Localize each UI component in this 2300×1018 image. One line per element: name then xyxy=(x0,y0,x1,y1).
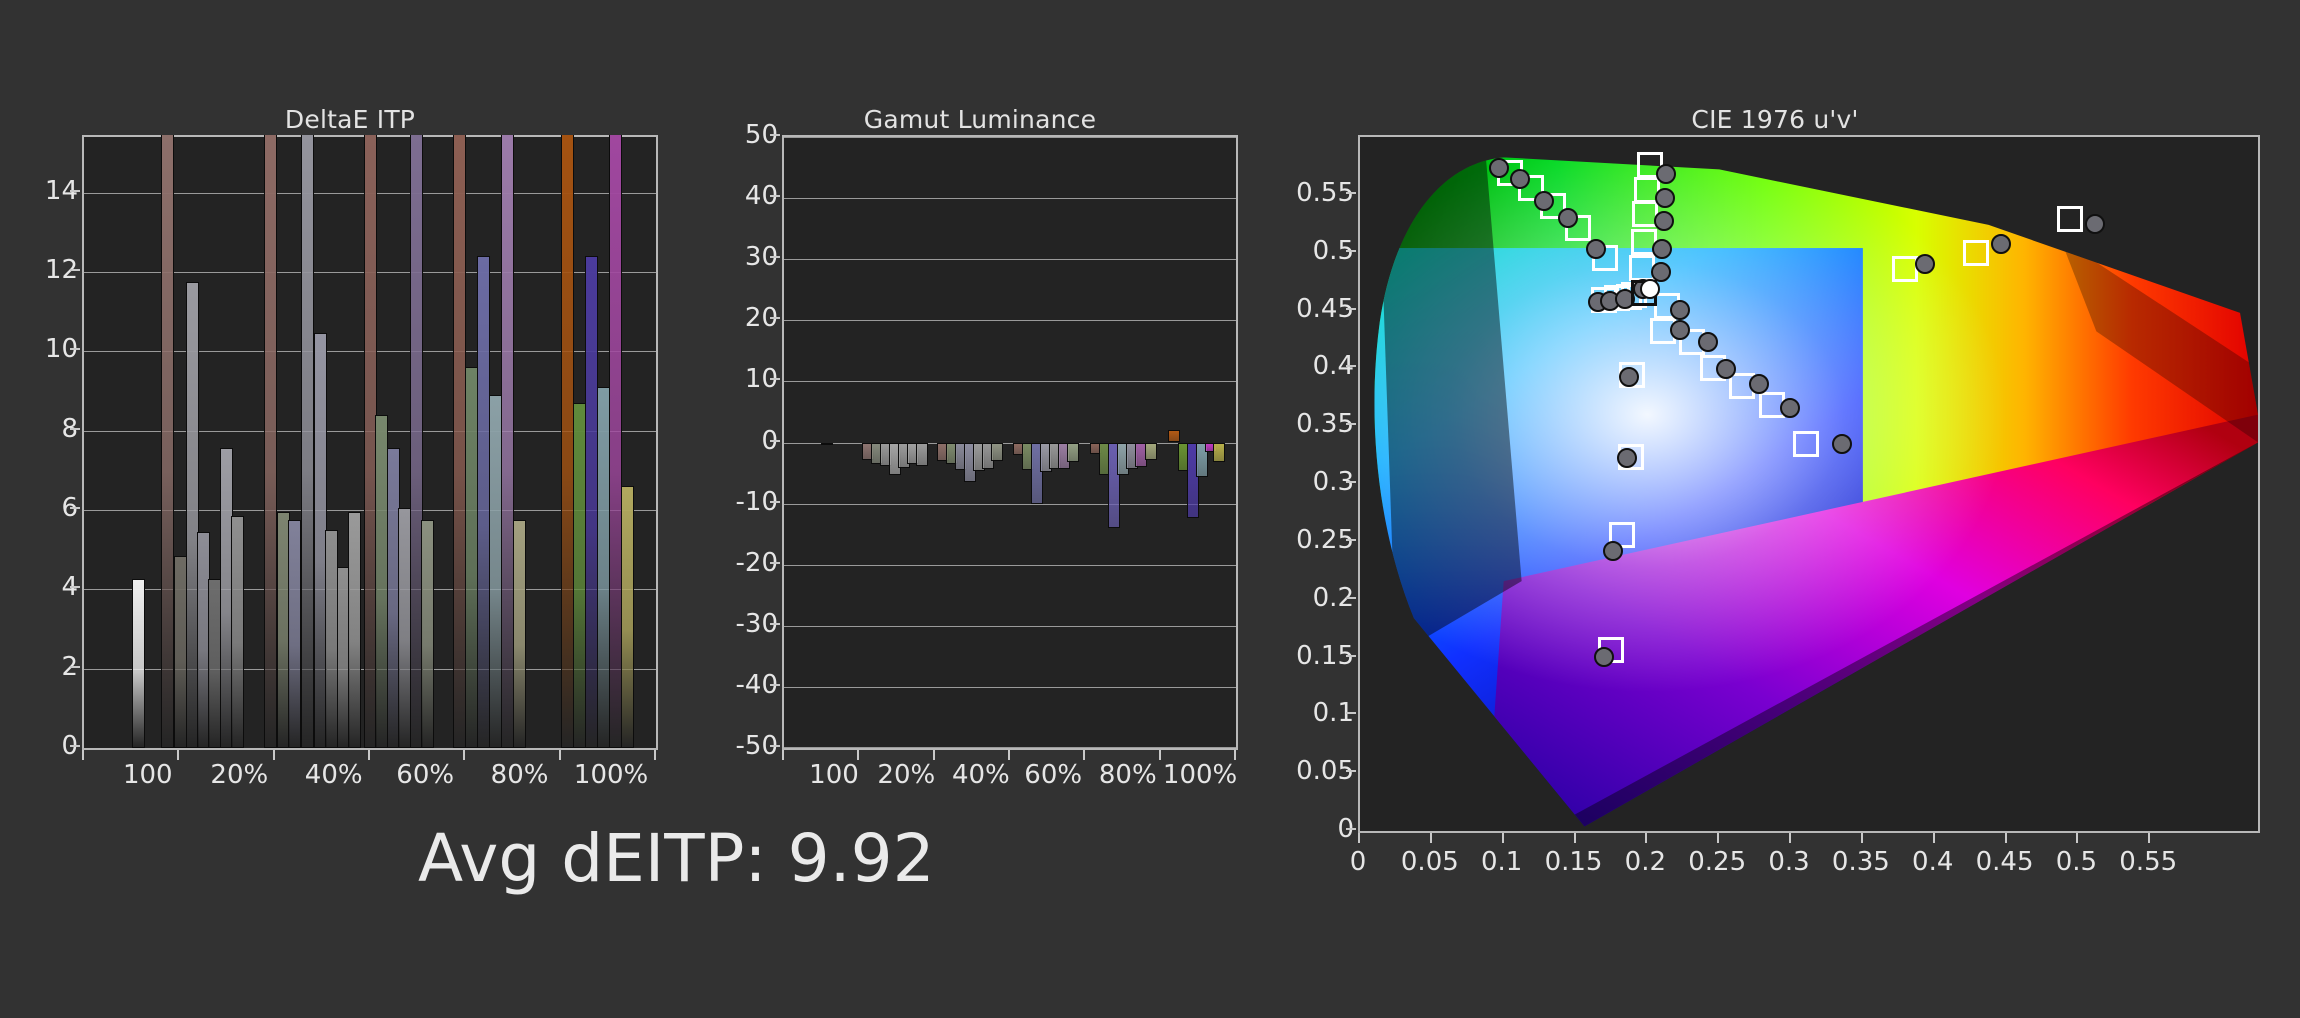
y-axis-tick-label: -20 xyxy=(718,548,778,578)
x-axis-tick-label: 20% xyxy=(877,760,935,790)
cie-spectral-locus xyxy=(1360,137,2258,831)
cie-measured-marker xyxy=(1670,320,1690,340)
y-axis-tick-label: 0.35 xyxy=(1290,409,1354,439)
gamut-luminance-panel: Gamut Luminance 50403020100-10-20-30-40-… xyxy=(700,105,1260,805)
y-axis-tick-label: 0.05 xyxy=(1290,756,1354,786)
x-axis-tick-mark xyxy=(1502,833,1504,843)
cie-measured-marker xyxy=(1510,169,1530,189)
cie-measured-marker xyxy=(1716,359,1736,379)
x-axis-tick-mark xyxy=(1789,833,1791,843)
y-axis-tick-mark xyxy=(770,623,780,625)
x-axis-tick-mark xyxy=(1234,750,1236,760)
y-axis-tick-label: 0.1 xyxy=(1290,698,1354,728)
y-axis-tick-mark xyxy=(1346,365,1356,367)
y-axis-tick-mark xyxy=(70,428,80,430)
gamut-luminance-y-axis: 50403020100-10-20-30-40-50 xyxy=(700,135,778,750)
x-axis-tick-mark xyxy=(1861,833,1863,843)
cie-measured-marker xyxy=(1489,158,1509,178)
cie-measured-marker xyxy=(1780,398,1800,418)
x-axis-tick-label: 100% xyxy=(574,760,648,790)
x-axis-tick-mark xyxy=(654,750,656,760)
deltae-itp-y-axis: 14121086420 xyxy=(20,135,78,750)
y-axis-tick-mark xyxy=(70,586,80,588)
x-axis-tick-label: 0.2 xyxy=(1625,847,1666,877)
x-axis-tick-label: 0.5 xyxy=(2056,847,2097,877)
deltae-bar xyxy=(264,135,277,748)
x-axis-tick-label: 80% xyxy=(491,760,549,790)
cie-measured-marker xyxy=(1594,647,1614,667)
gamut-bar xyxy=(916,443,928,467)
y-axis-tick-label: 20 xyxy=(718,303,778,333)
deltae-itp-title: DeltaE ITP xyxy=(20,105,680,134)
x-axis-tick-mark xyxy=(782,750,784,760)
y-axis-tick-mark xyxy=(70,190,80,192)
cie-target-marker xyxy=(1963,240,1989,266)
y-axis-tick-mark xyxy=(1346,423,1356,425)
cie-measured-marker xyxy=(1603,541,1623,561)
x-axis-tick-mark xyxy=(2148,833,2150,843)
cie-measured-marker xyxy=(1991,234,2011,254)
y-axis-tick-mark xyxy=(770,317,780,319)
grid-line xyxy=(784,443,1236,444)
grid-line xyxy=(784,198,1236,199)
deltae-bar xyxy=(513,520,526,748)
y-axis-tick-mark xyxy=(1346,308,1356,310)
x-axis-tick-mark xyxy=(2076,833,2078,843)
x-axis-tick-label: 80% xyxy=(1099,760,1157,790)
x-axis-tick-label: 0.4 xyxy=(1912,847,1953,877)
deltae-bar xyxy=(621,486,634,748)
y-axis-tick-mark xyxy=(770,256,780,258)
x-axis-tick-mark xyxy=(463,750,465,760)
x-axis-tick-mark xyxy=(1574,833,1576,843)
x-axis-tick-label: 0.1 xyxy=(1481,847,1522,877)
y-axis-tick-label: 0.3 xyxy=(1290,467,1354,497)
y-axis-tick-label: -50 xyxy=(718,731,778,761)
cie-target-marker xyxy=(2057,206,2083,232)
y-axis-tick-mark xyxy=(770,562,780,564)
grid-line xyxy=(784,137,1236,138)
y-axis-tick-mark xyxy=(1346,481,1356,483)
y-axis-tick-mark xyxy=(1346,712,1356,714)
cie-measured-marker xyxy=(1652,239,1672,259)
x-axis-tick-label: 0.45 xyxy=(1976,847,2034,877)
y-axis-tick-mark xyxy=(1346,192,1356,194)
grid-line xyxy=(784,687,1236,688)
gamut-luminance-title: Gamut Luminance xyxy=(700,105,1260,134)
x-axis-tick-mark xyxy=(1430,833,1432,843)
x-axis-tick-mark xyxy=(1159,750,1161,760)
x-axis-tick-label: 100% xyxy=(1163,760,1237,790)
y-axis-tick-mark xyxy=(70,745,80,747)
y-axis-tick-mark xyxy=(1346,655,1356,657)
x-axis-tick-label: 40% xyxy=(305,760,363,790)
gamut-bar xyxy=(1213,443,1225,463)
y-axis-tick-label: 10 xyxy=(718,364,778,394)
grid-line xyxy=(784,259,1236,260)
y-axis-tick-mark xyxy=(1346,770,1356,772)
deltae-itp-panel: DeltaE ITP 14121086420 10020%40%60%80%10… xyxy=(20,105,680,805)
y-axis-tick-label: 0.45 xyxy=(1290,294,1354,324)
y-axis-tick-label: -30 xyxy=(718,609,778,639)
x-axis-tick-label: 0.3 xyxy=(1768,847,1809,877)
y-axis-tick-label: 0.15 xyxy=(1290,641,1354,671)
y-axis-tick-label: 0.4 xyxy=(1290,351,1354,381)
y-axis-tick-mark xyxy=(770,745,780,747)
cie-measured-marker xyxy=(1832,434,1852,454)
avg-deitp-label: Avg dEITP: 9.92 xyxy=(418,820,935,897)
deltae-bar xyxy=(301,135,314,748)
cie-measured-marker xyxy=(1619,367,1639,387)
cie-measured-marker xyxy=(1586,239,1606,259)
y-axis-tick-mark xyxy=(70,666,80,668)
y-axis-tick-mark xyxy=(770,440,780,442)
x-axis-tick-mark xyxy=(857,750,859,760)
x-axis-tick-label: 20% xyxy=(210,760,268,790)
x-axis-tick-label: 0.15 xyxy=(1545,847,1603,877)
gamut-luminance-plot xyxy=(782,135,1238,750)
x-axis-tick-mark xyxy=(273,750,275,760)
grid-line xyxy=(784,320,1236,321)
y-axis-tick-mark xyxy=(70,348,80,350)
grid-line xyxy=(784,747,1236,748)
gamut-bar xyxy=(991,443,1003,462)
x-axis-tick-label: 0.35 xyxy=(1832,847,1890,877)
y-axis-tick-label: 30 xyxy=(718,242,778,272)
y-axis-tick-label: -10 xyxy=(718,487,778,517)
gamut-bar xyxy=(1168,430,1180,442)
cie-measured-marker xyxy=(1698,332,1718,352)
x-axis-tick-mark xyxy=(1717,833,1719,843)
grid-line xyxy=(784,381,1236,382)
x-axis-tick-label: 60% xyxy=(396,760,454,790)
x-axis-tick-label: 40% xyxy=(952,760,1010,790)
gamut-bar xyxy=(821,443,833,445)
x-axis-tick-label: 0.05 xyxy=(1401,847,1459,877)
cie-measured-marker xyxy=(1655,188,1675,208)
y-axis-tick-mark xyxy=(770,134,780,136)
cie-measured-marker xyxy=(1670,300,1690,320)
y-axis-tick-label: 0.25 xyxy=(1290,525,1354,555)
gamut-luminance-x-axis: 10020%40%60%80%100% xyxy=(782,750,1238,805)
x-axis-tick-mark xyxy=(1933,833,1935,843)
y-axis-tick-mark xyxy=(70,269,80,271)
cie-target-marker xyxy=(1892,256,1918,282)
cie-target-marker xyxy=(1793,431,1819,457)
y-axis-tick-label: -40 xyxy=(718,670,778,700)
cie-1976-plot xyxy=(1358,135,2260,833)
cie-1976-title: CIE 1976 u'v' xyxy=(1270,105,2280,134)
y-axis-tick-mark xyxy=(770,195,780,197)
x-axis-tick-mark xyxy=(2005,833,2007,843)
y-axis-tick-label: 0.55 xyxy=(1290,178,1354,208)
x-axis-tick-label: 100 xyxy=(123,760,173,790)
x-axis-tick-mark xyxy=(177,750,179,760)
y-axis-tick-mark xyxy=(1346,250,1356,252)
x-axis-tick-mark xyxy=(368,750,370,760)
grid-line xyxy=(784,565,1236,566)
cie-measured-marker xyxy=(1558,208,1578,228)
y-axis-tick-label: 0.2 xyxy=(1290,583,1354,613)
x-axis-tick-label: 0 xyxy=(1350,847,1367,877)
cie-measured-marker xyxy=(1654,211,1674,231)
x-axis-tick-label: 0.55 xyxy=(2119,847,2177,877)
x-axis-tick-mark xyxy=(1358,833,1360,843)
cie-measured-marker xyxy=(2085,214,2105,234)
x-axis-tick-mark xyxy=(1008,750,1010,760)
cie-measured-marker xyxy=(1656,164,1676,184)
x-axis-tick-mark xyxy=(933,750,935,760)
deltae-bar xyxy=(161,135,174,748)
cie-measured-marker xyxy=(1915,254,1935,274)
x-axis-tick-label: 100 xyxy=(809,760,859,790)
deltae-bar xyxy=(132,579,145,748)
deltae-bar xyxy=(348,512,361,748)
deltae-bar xyxy=(421,520,434,748)
deltae-itp-x-axis: 10020%40%60%80%100% xyxy=(82,750,658,805)
y-axis-tick-mark xyxy=(1346,539,1356,541)
x-axis-tick-label: 60% xyxy=(1024,760,1082,790)
x-axis-tick-mark xyxy=(1645,833,1647,843)
y-axis-tick-label: 50 xyxy=(718,120,778,150)
y-axis-tick-mark xyxy=(1346,597,1356,599)
y-axis-tick-label: 0 xyxy=(1290,814,1354,844)
y-axis-tick-mark xyxy=(1346,828,1356,830)
cie-measured-marker xyxy=(1749,374,1769,394)
cie-white-point-measured xyxy=(1640,279,1660,299)
grid-line xyxy=(784,626,1236,627)
y-axis-tick-label: 0.5 xyxy=(1290,236,1354,266)
deltae-bar xyxy=(231,516,244,748)
cie-measured-marker xyxy=(1534,191,1554,211)
y-axis-tick-mark xyxy=(770,378,780,380)
deltae-bar xyxy=(288,520,301,748)
y-axis-tick-label: 0 xyxy=(718,426,778,456)
grid-line xyxy=(784,504,1236,505)
y-axis-tick-mark xyxy=(70,507,80,509)
cie-1976-panel: CIE 1976 u'v' xyxy=(1270,105,2280,895)
deltae-itp-plot xyxy=(82,135,658,750)
y-axis-tick-mark xyxy=(770,684,780,686)
x-axis-tick-label: 0.25 xyxy=(1688,847,1746,877)
y-axis-tick-label: 40 xyxy=(718,181,778,211)
cie-1976-x-axis: 00.050.10.150.20.250.30.350.40.450.50.55 xyxy=(1358,833,2260,895)
gamut-bar xyxy=(1067,443,1079,463)
gamut-bar xyxy=(1145,443,1157,461)
y-axis-tick-mark xyxy=(770,501,780,503)
cie-measured-marker xyxy=(1617,448,1637,468)
x-axis-tick-mark xyxy=(1083,750,1085,760)
cie-1976-y-axis: 0.550.50.450.40.350.30.250.20.150.10.050 xyxy=(1270,135,1354,833)
x-axis-tick-mark xyxy=(559,750,561,760)
x-axis-tick-mark xyxy=(82,750,84,760)
